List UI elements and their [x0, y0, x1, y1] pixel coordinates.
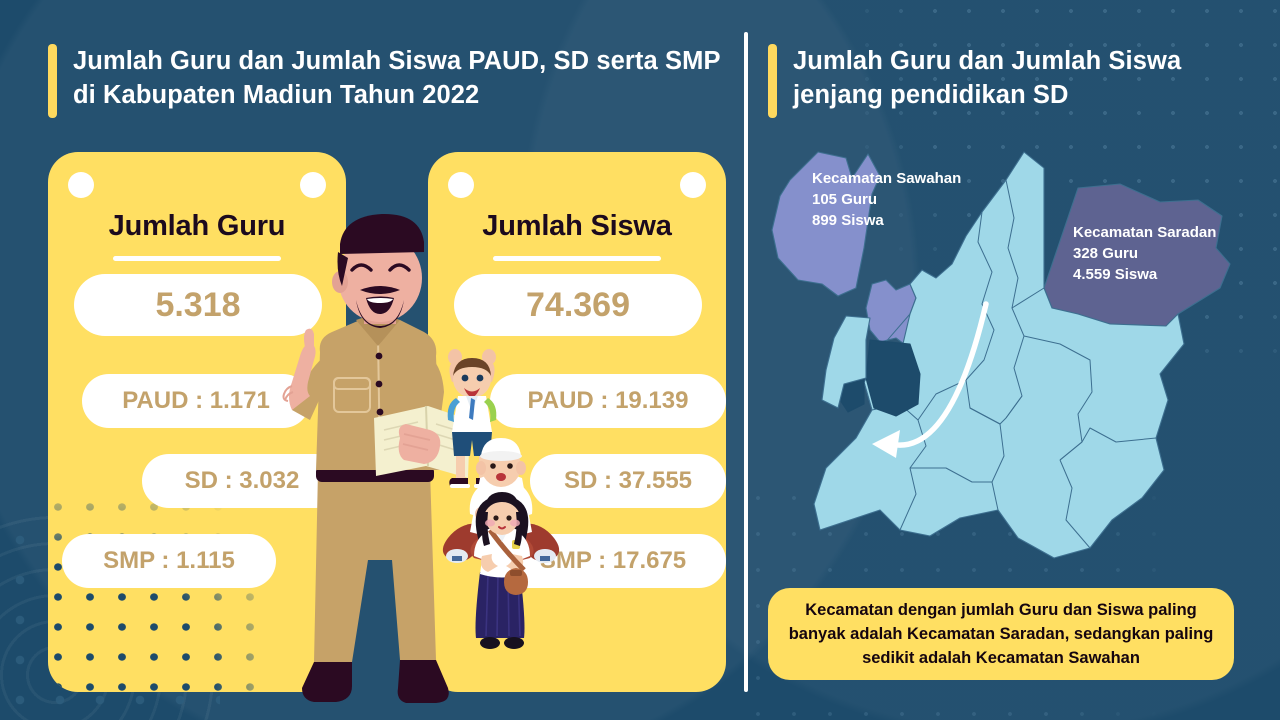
- card-hole-right-icon: [680, 172, 706, 198]
- card-title-siswa: Jumlah Siswa: [428, 210, 726, 243]
- card-hole-left-icon: [448, 172, 474, 198]
- map-label-saradan-siswa: 4.559 Siswa: [1073, 264, 1216, 285]
- siswa-total-pill: 74.369: [454, 274, 702, 336]
- map-label-sawahan-siswa: 899 Siswa: [812, 210, 961, 231]
- right-panel-header: Jumlah Guru dan Jumlah Siswa jenjang pen…: [768, 44, 1238, 118]
- guru-sd-pill: SD : 3.032: [142, 454, 342, 508]
- card-dot-texture: [48, 492, 272, 692]
- map-label-saradan: Kecamatan Saradan 328 Guru 4.559 Siswa: [1073, 222, 1216, 285]
- siswa-sd-pill: SD : 37.555: [530, 454, 726, 508]
- siswa-smp-pill: SMP : 17.675: [500, 534, 726, 588]
- map-caption: Kecamatan dengan jumlah Guru dan Siswa p…: [768, 588, 1234, 680]
- header-accent-bar: [768, 44, 777, 118]
- card-title-guru: Jumlah Guru: [48, 210, 346, 243]
- header-accent-bar: [48, 44, 57, 118]
- card-jumlah-guru: Jumlah Guru 5.318 PAUD : 1.171 SD : 3.03…: [48, 152, 346, 692]
- guru-paud-pill: PAUD : 1.171: [82, 374, 310, 428]
- card-underline: [113, 256, 281, 261]
- page-title: Jumlah Guru dan Jumlah Siswa PAUD, SD se…: [73, 44, 728, 112]
- map-region-dark: [866, 340, 920, 416]
- panel-divider: [744, 32, 748, 692]
- card-hole-left-icon: [68, 172, 94, 198]
- card-underline: [493, 256, 661, 261]
- siswa-paud-pill: PAUD : 19.139: [490, 374, 726, 428]
- map-label-saradan-guru: 328 Guru: [1073, 243, 1216, 264]
- guru-total-pill: 5.318: [74, 274, 322, 336]
- card-hole-right-icon: [300, 172, 326, 198]
- map-section-title: Jumlah Guru dan Jumlah Siswa jenjang pen…: [793, 44, 1238, 112]
- map-label-sawahan: Kecamatan Sawahan 105 Guru 899 Siswa: [812, 168, 961, 231]
- guru-smp-pill: SMP : 1.115: [62, 534, 276, 588]
- card-jumlah-siswa: Jumlah Siswa 74.369 PAUD : 19.139 SD : 3…: [428, 152, 726, 692]
- map-kabupaten-madiun: Kecamatan Sawahan 105 Guru 899 Siswa Kec…: [760, 138, 1260, 578]
- map-label-saradan-name: Kecamatan Saradan: [1073, 222, 1216, 243]
- map-label-sawahan-name: Kecamatan Sawahan: [812, 168, 961, 189]
- left-panel-header: Jumlah Guru dan Jumlah Siswa PAUD, SD se…: [48, 44, 728, 118]
- map-label-sawahan-guru: 105 Guru: [812, 189, 961, 210]
